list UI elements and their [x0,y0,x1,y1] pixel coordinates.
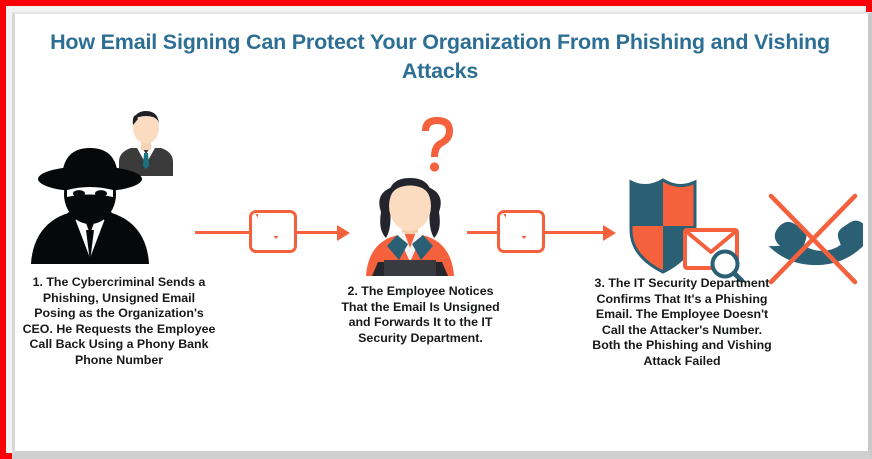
employee-person-icon [354,166,466,276]
cybercriminal-hacker-icon [29,146,151,266]
security-shield-icon [623,172,751,282]
arrow-head-icon [603,225,616,241]
blocked-phone-illustration [763,190,863,288]
step-2-caption: 2. The Employee Notices That the Email I… [333,284,508,346]
connector-1 [195,204,350,260]
step-1-caption: 1. The Cybercriminal Sends a Phishing, U… [21,275,217,369]
infographic-canvas: How Email Signing Can Protect Your Organ… [15,14,868,451]
email-envelope-icon [497,210,545,253]
connector-line-right [545,231,605,234]
connector-line-left [467,231,499,234]
email-envelope-icon [249,210,297,253]
stage-1-illustration [29,106,209,266]
connector-line-left [195,231,251,234]
connector-line-right [297,231,339,234]
blocked-phone-icon [763,190,863,288]
step-3-caption: 3. The IT Security Department Confirms T… [592,276,772,370]
infographic-card: How Email Signing Can Protect Your Organ… [12,12,872,459]
page-title: How Email Signing Can Protect Your Organ… [45,28,835,86]
red-outer-border: How Email Signing Can Protect Your Organ… [0,0,872,459]
stage-3-illustration [623,172,753,282]
connector-2 [467,204,627,260]
